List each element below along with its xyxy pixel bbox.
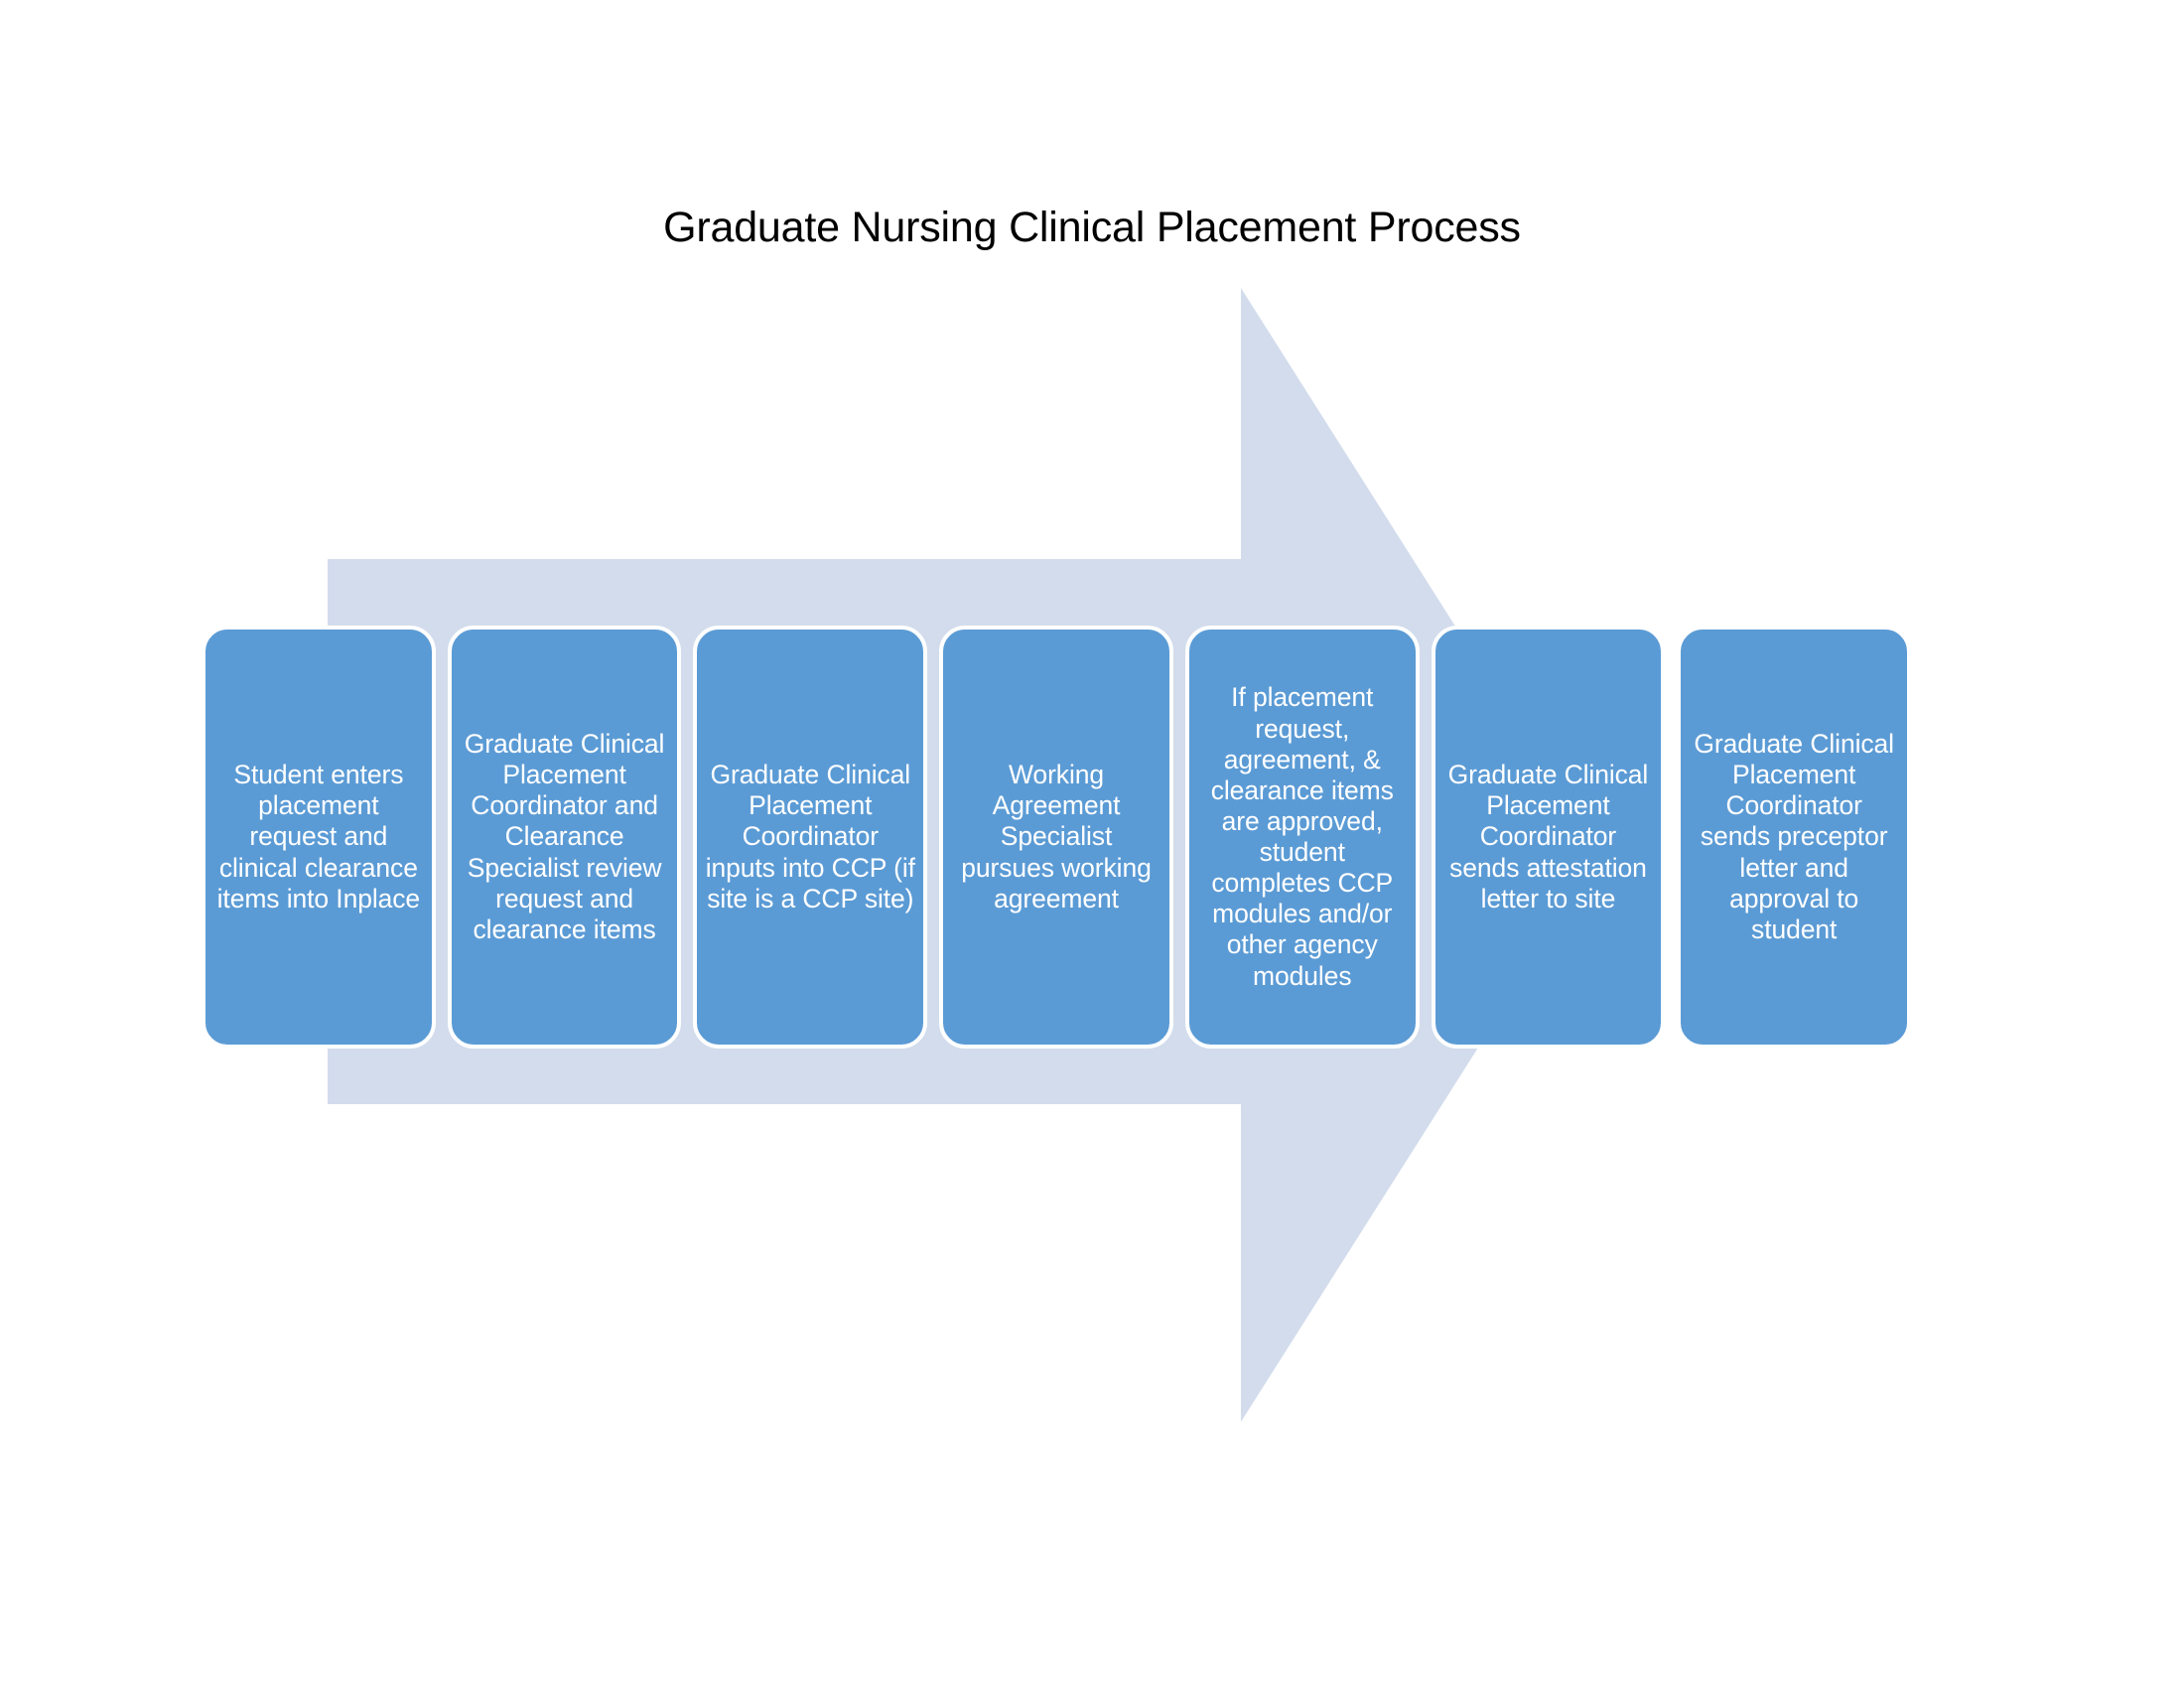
page-title: Graduate Nursing Clinical Placement Proc… xyxy=(0,205,2184,251)
process-step-7-label: Graduate Clinical Placement Coordinator … xyxy=(1689,729,1899,945)
process-step-5-label: If placement request, agreement, & clear… xyxy=(1197,682,1408,991)
process-step-6[interactable]: Graduate Clinical Placement Coordinator … xyxy=(1432,626,1666,1049)
process-step-5[interactable]: If placement request, agreement, & clear… xyxy=(1185,626,1420,1049)
process-step-6-label: Graduate Clinical Placement Coordinator … xyxy=(1443,760,1654,914)
process-step-7[interactable]: Graduate Clinical Placement Coordinator … xyxy=(1677,626,1911,1049)
process-step-1[interactable]: Student enters placement request and cli… xyxy=(202,626,436,1049)
process-step-2-label: Graduate Clinical Placement Coordinator … xyxy=(460,729,670,945)
process-step-2[interactable]: Graduate Clinical Placement Coordinator … xyxy=(448,626,682,1049)
process-step-1-label: Student enters placement request and cli… xyxy=(213,760,424,914)
diagram-canvas: Graduate Nursing Clinical Placement Proc… xyxy=(0,0,2184,1688)
process-step-3-label: Graduate Clinical Placement Coordinator … xyxy=(705,760,915,914)
process-step-4-label: Working Agreement Specialist pursues wor… xyxy=(951,760,1161,914)
process-steps-row: Student enters placement request and cli… xyxy=(202,626,1911,1049)
process-step-4[interactable]: Working Agreement Specialist pursues wor… xyxy=(939,626,1173,1049)
process-step-3[interactable]: Graduate Clinical Placement Coordinator … xyxy=(693,626,927,1049)
